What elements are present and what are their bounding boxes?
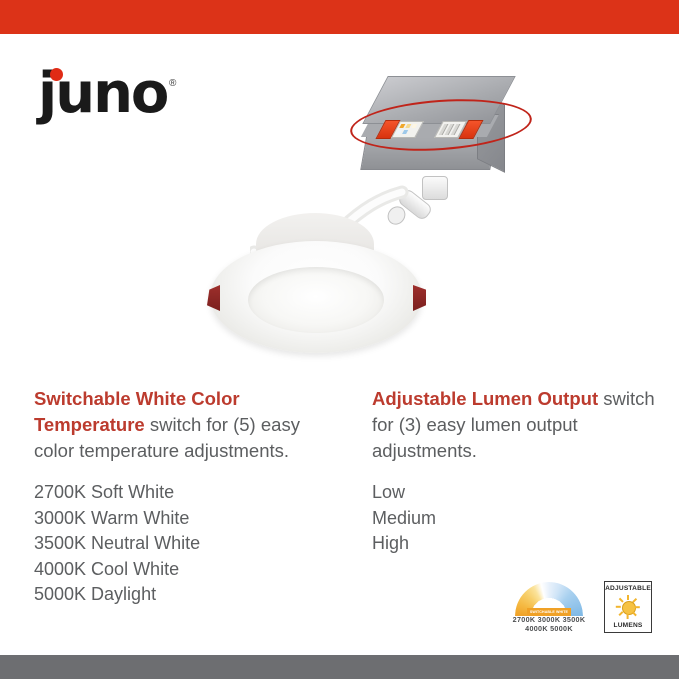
bottom-gray-band — [0, 655, 679, 679]
list-item: Low — [372, 480, 436, 506]
switchable-white-headline: Switchable White Color Temperature switc… — [34, 386, 334, 464]
feature-block-switchable-white: Switchable White Color Temperature switc… — [34, 386, 334, 464]
registered-trademark-icon: ® — [169, 78, 176, 89]
list-item: 5000K Daylight — [34, 582, 200, 608]
list-item: Medium — [372, 506, 436, 532]
sun-icon — [616, 595, 640, 619]
downlight-lens — [248, 267, 384, 333]
infographic-page: juno ® — [0, 0, 679, 679]
juno-logo: juno ® — [38, 66, 188, 122]
list-item: 3500K Neutral White — [34, 531, 200, 557]
junction-box-knockout — [422, 176, 448, 200]
downlight-fixture — [204, 213, 429, 353]
adjustable-lumens-bottom-label: LUMENS — [613, 622, 642, 629]
color-temperature-options: 2700K Soft White 3000K Warm White 3500K … — [34, 480, 200, 608]
top-red-band — [0, 0, 679, 34]
adjustable-lumen-headline: Adjustable Lumen Output switch for (3) e… — [372, 386, 662, 464]
adjustable-lumens-badge: ADJUSTABLE LUMENS — [604, 581, 652, 633]
list-item: High — [372, 531, 436, 557]
retention-clip-right — [413, 285, 426, 311]
adjustable-lumen-highlight: Adjustable Lumen Output — [372, 388, 598, 409]
switchable-white-values: 2700K 3000K 3500K 4000K 5000K — [508, 616, 590, 633]
logo-red-dot — [50, 68, 63, 81]
feature-block-adjustable-lumens: Adjustable Lumen Output switch for (3) e… — [372, 386, 662, 464]
retention-clip-left — [207, 285, 220, 311]
list-item: 3000K Warm White — [34, 506, 200, 532]
product-illustration — [190, 58, 520, 378]
switchable-white-badge: SWITCHABLE WHITE 2700K 3000K 3500K 4000K… — [508, 582, 590, 632]
list-item: 2700K Soft White — [34, 480, 200, 506]
list-item: 4000K Cool White — [34, 557, 200, 583]
adjustable-lumens-top-label: ADJUSTABLE — [605, 585, 651, 592]
cct-values-line2: 4000K 5000K — [508, 625, 590, 634]
switchable-white-band-label: SWITCHABLE WHITE — [530, 610, 568, 614]
lumen-output-options: Low Medium High — [372, 480, 436, 557]
